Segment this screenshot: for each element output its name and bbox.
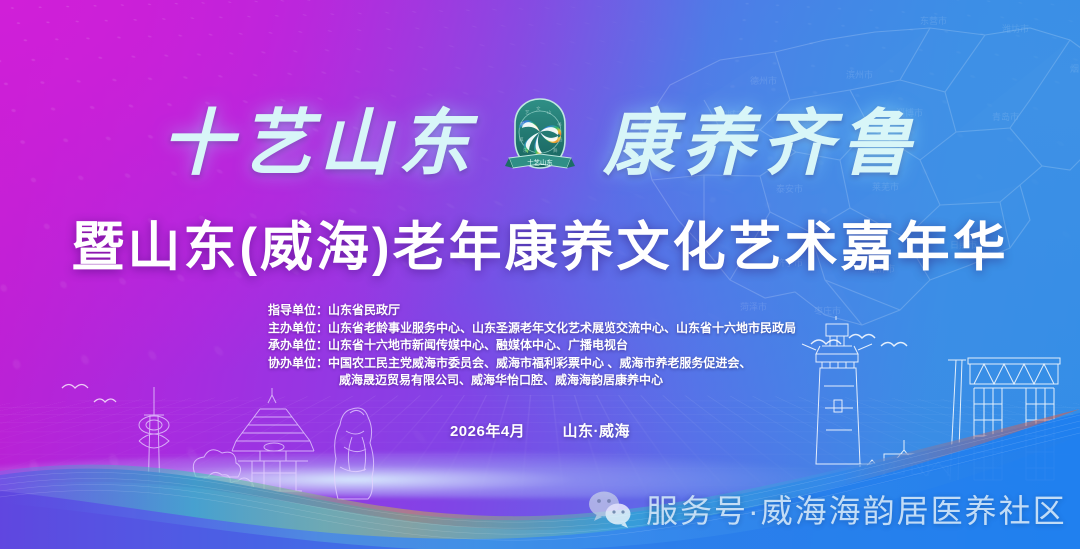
seagulls-right-icon	[805, 330, 925, 376]
credit-label-0: 指导单位：	[268, 303, 328, 317]
subtitle: 暨山东(威海)老年康养文化艺术嘉年华	[0, 205, 1080, 281]
poster-canvas: 德州市 滨州市 东营市 潍坊市 烟台市 聊城市 济南市 淄博市 青岛市 泰安市 …	[0, 0, 1080, 549]
main-title-left: 十艺山东	[161, 84, 477, 189]
credit-row-2: 承办单位：山东省十六地市新闻传媒中心、融媒体中心、广播电视台	[268, 337, 788, 355]
credit-value-2: 山东省十六地市新闻传媒中心、融媒体中心、广播电视台	[328, 338, 628, 352]
credit-row-3: 协办单位：中国农工民主党威海市委员会、威海市福利彩票中心 、威海市养老服务促进会…	[268, 355, 788, 373]
wechat-icon	[588, 490, 632, 528]
svg-text:山: 山	[547, 109, 552, 116]
event-date: 2026年4月	[450, 423, 525, 440]
credit-row-4: 威海晟迈贸易有限公司、威海华怡口腔、威海海韵居康养中心	[268, 372, 788, 390]
credit-row-0: 指导单位：山东省民政厅	[268, 302, 788, 320]
svg-text:潍坊市: 潍坊市	[1002, 23, 1029, 34]
svg-text:书: 书	[557, 121, 562, 128]
credit-label-3: 协办单位：	[268, 356, 328, 370]
svg-text:烟台市: 烟台市	[1070, 63, 1080, 74]
svg-text:舞: 舞	[553, 147, 558, 154]
event-location: 山东·威海	[563, 423, 631, 440]
credit-value-1: 山东省老龄事业服务中心、山东圣源老年文化艺术展览交流中心、山东省十六地市民政局	[328, 321, 796, 335]
svg-text:滨州市: 滨州市	[846, 69, 873, 80]
wechat-account-bar[interactable]: 服务号·威海海韵居医养社区	[588, 486, 1067, 532]
credit-row-1: 主办单位：山东省老龄事业服务中心、山东圣源老年文化艺术展览交流中心、山东省十六地…	[268, 320, 788, 338]
wechat-account-label: 服务号·威海海韵居医养社区	[646, 486, 1067, 532]
credit-value-4: 威海晟迈贸易有限公司、威海华怡口腔、威海海韵居康养中心	[339, 373, 663, 387]
svg-text:乐: 乐	[523, 147, 528, 153]
date-location-line: 2026年4月 山东·威海	[0, 420, 1080, 441]
credit-value-0: 山东省民政厅	[328, 303, 400, 317]
credit-value-3: 中国农工民主党威海市委员会、威海市福利彩票中心 、威海市养老服务促进会、	[328, 356, 751, 370]
shiyi-shandong-emblem-logo: 艺文山 琴书 棋画 乐舞 十艺山东	[503, 96, 577, 178]
emblem-ribbon-text: 十艺山东	[527, 157, 553, 166]
svg-text:枣庄市: 枣庄市	[814, 305, 841, 316]
main-title-right: 康养齐鲁	[603, 84, 919, 189]
svg-text:东营市: 东营市	[920, 15, 947, 26]
main-title-row: 十艺山东	[0, 84, 1080, 189]
credit-label-1: 主办单位：	[268, 321, 328, 335]
svg-text:棋: 棋	[519, 136, 524, 143]
credits-block: 指导单位：山东省民政厅 主办单位：山东省老龄事业服务中心、山东圣源老年文化艺术展…	[268, 302, 788, 390]
credit-label-2: 承办单位：	[268, 338, 328, 352]
svg-text:文: 文	[536, 105, 541, 112]
svg-text:艺: 艺	[525, 110, 530, 115]
